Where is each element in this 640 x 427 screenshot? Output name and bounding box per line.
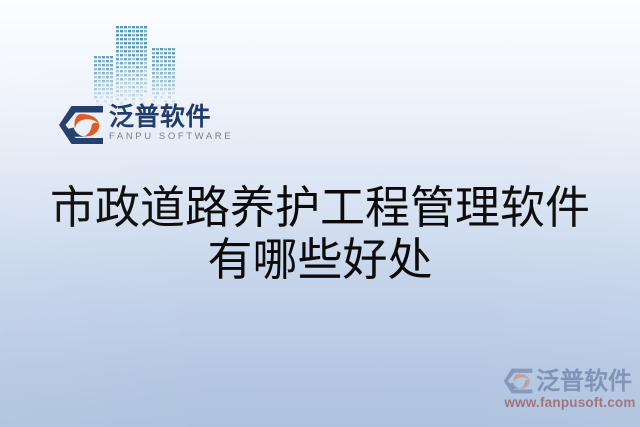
fanpu-watermark-mark-icon — [503, 368, 533, 394]
page-title: 市政道路养护工程管理软件 有哪些好处 — [0, 182, 640, 286]
watermark: 泛普软件 www.fanpusoft.com — [503, 364, 637, 414]
brand-name-cn: 泛普软件 — [109, 103, 233, 130]
brand-logo: 泛普软件 FANPU SOFTWARE — [58, 103, 233, 149]
watermark-url: www.fanpusoft.com — [503, 395, 637, 410]
pixel-city-skyline-icon — [92, 24, 180, 110]
watermark-logo-row: 泛普软件 — [503, 364, 637, 398]
fanpu-logo-mark-icon — [58, 105, 104, 145]
brand-wordmark: 泛普软件 FANPU SOFTWARE — [109, 103, 233, 143]
promo-banner: 泛普软件 FANPU SOFTWARE 市政道路养护工程管理软件 有哪些好处 泛… — [0, 0, 640, 427]
page-title-line-2: 有哪些好处 — [0, 234, 640, 286]
watermark-brand-cn: 泛普软件 — [536, 368, 632, 394]
brand-name-en: FANPU SOFTWARE — [109, 131, 233, 143]
page-title-line-1: 市政道路养护工程管理软件 — [0, 182, 640, 234]
